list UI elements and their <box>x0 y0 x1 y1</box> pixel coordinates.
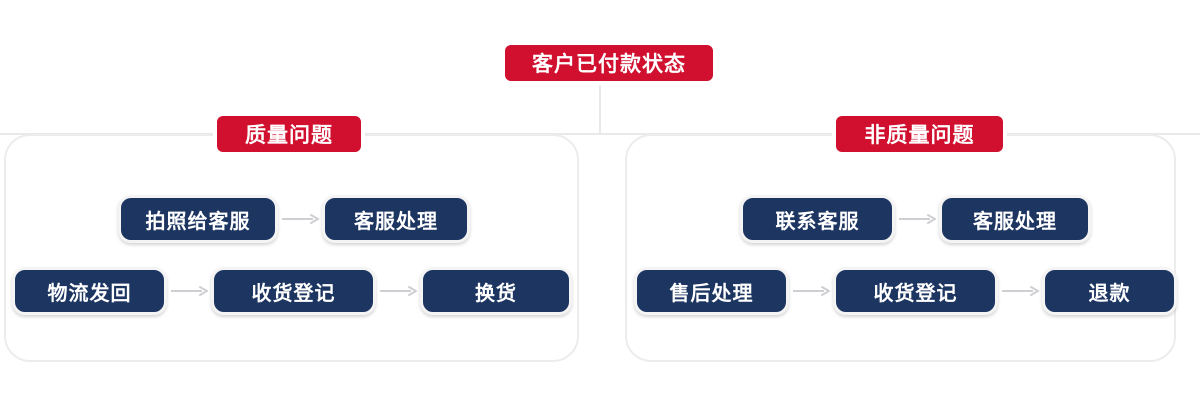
arrow-right-icon <box>278 212 322 226</box>
root-connector-vertical <box>599 82 601 134</box>
panel-quality-issue <box>4 134 579 362</box>
flow-row-quality-2: 物流发回 收货登记 换货 <box>12 266 572 316</box>
flowchart-canvas: 客户已付款状态 质量问题 非质量问题 拍照给客服 客服处理 物流发回 收货登记 <box>0 0 1200 400</box>
flow-node[interactable]: 联系客服 <box>740 195 895 243</box>
flow-node[interactable]: 收货登记 <box>833 267 998 315</box>
flow-node[interactable]: 客服处理 <box>939 195 1091 243</box>
flow-node[interactable]: 退款 <box>1042 267 1177 315</box>
root-node-badge[interactable]: 客户已付款状态 <box>501 41 717 85</box>
arrow-right-icon <box>998 284 1042 298</box>
flow-node[interactable]: 物流发回 <box>12 267 167 315</box>
flow-row-non-quality-1: 联系客服 客服处理 <box>740 194 1091 244</box>
flow-node[interactable]: 拍照给客服 <box>118 195 278 243</box>
flow-node[interactable]: 客服处理 <box>322 195 470 243</box>
arrow-right-icon <box>167 284 211 298</box>
flow-row-non-quality-2: 售后处理 收货登记 退款 <box>634 266 1177 316</box>
arrow-right-icon <box>789 284 833 298</box>
panel-non-quality-issue <box>625 134 1176 362</box>
flow-node[interactable]: 售后处理 <box>634 267 789 315</box>
branch-header-non-quality-issue[interactable]: 非质量问题 <box>832 112 1007 156</box>
flow-row-quality-1: 拍照给客服 客服处理 <box>118 194 470 244</box>
flow-node[interactable]: 收货登记 <box>211 267 376 315</box>
flow-node[interactable]: 换货 <box>420 267 572 315</box>
arrow-right-icon <box>376 284 420 298</box>
branch-header-quality-issue[interactable]: 质量问题 <box>213 112 365 156</box>
arrow-right-icon <box>895 212 939 226</box>
